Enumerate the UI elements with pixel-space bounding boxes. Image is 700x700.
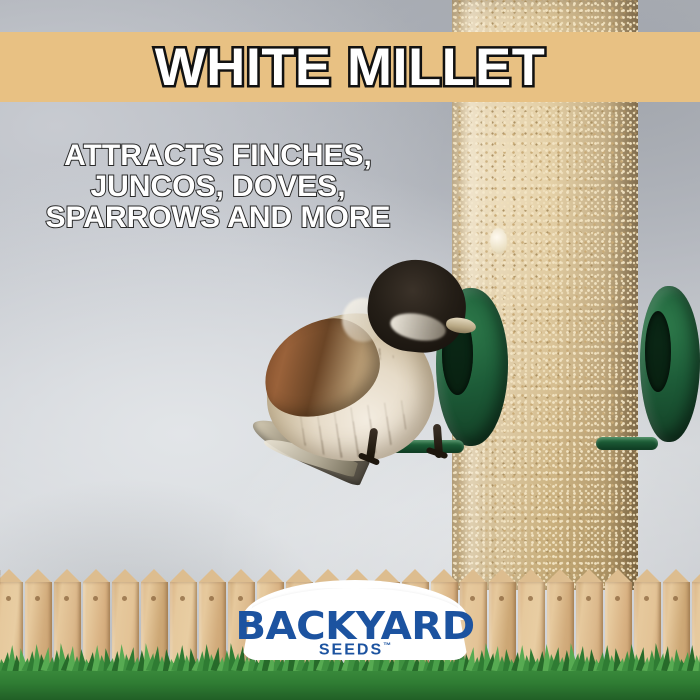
product-label-image: WHITE MILLET ATTRACTS FINCHES, JUNCOS, D… xyxy=(0,0,700,700)
feeder-port-right xyxy=(640,286,700,442)
subtitle-line-3: SPARROWS AND MORE xyxy=(18,202,418,233)
port-opening xyxy=(645,311,671,392)
bird-reed-bunting xyxy=(258,252,470,512)
brand-tagline-text: SEEDS xyxy=(319,641,383,658)
trademark-symbol: ™ xyxy=(383,641,391,650)
seed-highlight xyxy=(490,228,507,254)
subtitle-line-2: JUNCOS, DOVES, xyxy=(18,171,418,202)
perch-bar-right xyxy=(596,437,658,450)
page-title: WHITE MILLET xyxy=(0,32,700,102)
subtitle-line-1: ATTRACTS FINCHES, xyxy=(18,140,418,171)
brand-tagline: SEEDS™ xyxy=(242,641,468,659)
title-banner: WHITE MILLET xyxy=(0,32,700,102)
grass-strip xyxy=(0,663,700,700)
attracts-subtitle: ATTRACTS FINCHES, JUNCOS, DOVES, SPARROW… xyxy=(18,140,418,233)
